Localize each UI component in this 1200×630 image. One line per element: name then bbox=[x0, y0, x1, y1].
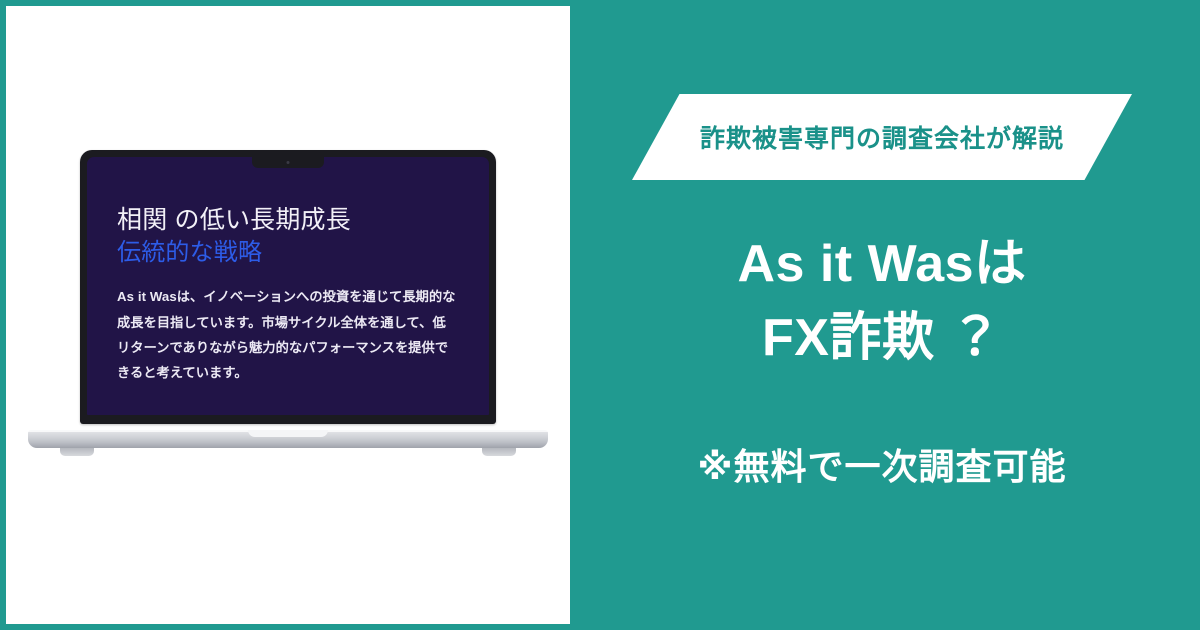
kicker-note: ※無料で一次調査可能 bbox=[570, 438, 1194, 490]
laptop-base bbox=[28, 430, 548, 448]
thumbnail-canvas: 相関 の低い長期成長 伝統的な戦略 As it Wasは、イノベーションへの投資… bbox=[0, 0, 1200, 630]
headline-line-2: FX詐欺 ？ bbox=[570, 302, 1194, 376]
right-text-panel: 詐欺被害専門の調査会社が解説 As it Wasは FX詐欺 ？ ※無料で一次調… bbox=[570, 6, 1194, 624]
headline: As it Wasは FX詐欺 ？ bbox=[570, 228, 1194, 376]
webcam-icon bbox=[287, 161, 290, 164]
laptop-lid: 相関 の低い長期成長 伝統的な戦略 As it Wasは、イノベーションへの投資… bbox=[80, 150, 496, 424]
laptop-base-notch bbox=[248, 430, 328, 437]
slide-subtitle: 伝統的な戦略 bbox=[117, 238, 459, 268]
slide-title: 相関 の低い長期成長 bbox=[117, 205, 459, 236]
camera-notch-icon bbox=[252, 157, 324, 168]
laptop-foot-left bbox=[60, 448, 94, 456]
left-visual-panel: 相関 の低い長期成長 伝統的な戦略 As it Wasは、イノベーションへの投資… bbox=[6, 6, 570, 624]
laptop-foot-right bbox=[482, 448, 516, 456]
slide-body-text: As it Wasは、イノベーションへの投資を通じて長期的な成長を目指しています… bbox=[117, 284, 459, 385]
headline-line-1: As it Wasは bbox=[570, 228, 1194, 302]
ribbon-label: 詐欺被害専門の調査会社が解説 bbox=[700, 119, 1064, 155]
laptop-mockup: 相関 の低い長期成長 伝統的な戦略 As it Wasは、イノベーションへの投資… bbox=[28, 150, 548, 470]
laptop-screen: 相関 の低い長期成長 伝統的な戦略 As it Wasは、イノベーションへの投資… bbox=[87, 157, 489, 415]
ribbon-banner: 詐欺被害専門の調査会社が解説 bbox=[632, 94, 1132, 180]
